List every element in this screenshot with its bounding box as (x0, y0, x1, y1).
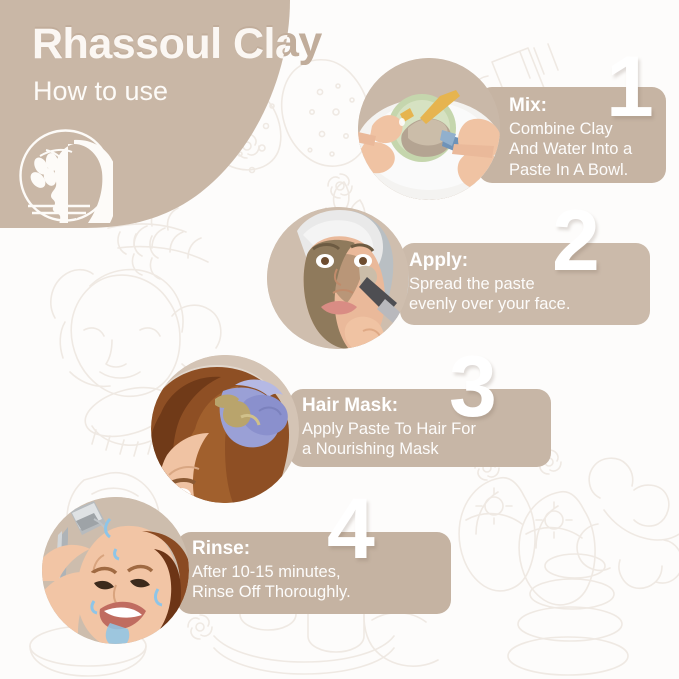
step-2-title: Apply: (409, 251, 468, 272)
step-3-title: Hair Mask: (302, 396, 398, 417)
watermark-ginger-root (577, 458, 679, 588)
step-2-body: Spread the paste evenly over your face. (409, 274, 570, 315)
step-1-line-3: Paste In A Bowl. (509, 160, 632, 180)
watermark-flower-5 (188, 615, 212, 639)
watermark-slippers (459, 478, 595, 605)
step-4-line-2: Rinse Off Thoroughly. (192, 582, 351, 602)
rhassoul-clay-how-to-use-infographic: Rhassoul Clay Rhassoul Clay How to use (0, 0, 679, 679)
step-2-number: 2 (552, 206, 598, 277)
step-3-line-2: a Nourishing Mask (302, 439, 476, 459)
step-1-line-2: And Water Into a (509, 139, 632, 159)
watermark-stacked-stones (508, 554, 628, 675)
step-2-line-1: Spread the paste (409, 274, 570, 294)
step-2-photo (267, 207, 409, 349)
step-4-photo (42, 497, 189, 644)
step-4-number: 4 (327, 494, 373, 565)
step-3-photo (151, 355, 299, 503)
brand-logo (18, 128, 113, 223)
step-1-number: 1 (606, 52, 652, 123)
step-2-line-2: evenly over your face. (409, 294, 570, 314)
step-4-title: Rinse: (192, 539, 250, 560)
watermark-herb-sprig-right (118, 226, 208, 279)
step-1-title: Mix: (509, 96, 547, 117)
header-subtitle: How to use (33, 76, 168, 107)
step-3-number: 3 (449, 352, 495, 423)
step-1-photo (358, 58, 500, 200)
page-title-base: Rhassoul Clay (32, 18, 322, 67)
